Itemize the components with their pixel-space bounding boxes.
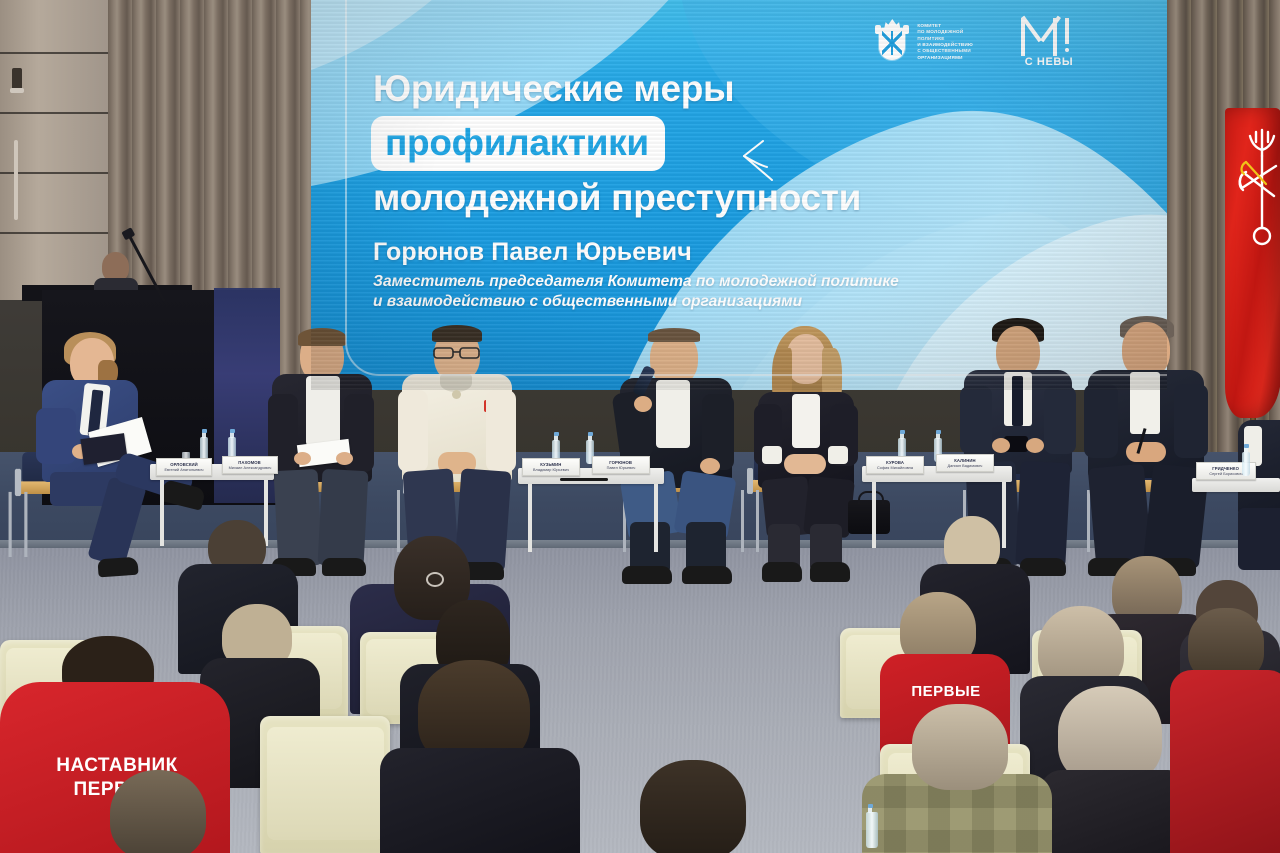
nameplate-5: КУРОВА София Михайловна bbox=[866, 456, 924, 474]
nameplate-surname: ОРЛОВСКИЙ bbox=[170, 462, 197, 467]
committee-line-6: ОРГАНИЗАЦИЯМИ bbox=[917, 55, 973, 61]
water-bottle[interactable] bbox=[1242, 452, 1250, 476]
audience-member-front-5 bbox=[1170, 608, 1280, 853]
slide-title-line-1: Юридические меры bbox=[373, 70, 1011, 107]
tshirt-right-text: ПЕРВЫЕ bbox=[894, 684, 998, 700]
nameplate-surname: ГРИДЧЕНКО bbox=[1213, 466, 1240, 471]
committee-line-5: С ОБЩЕСТВЕННЫМИ bbox=[917, 48, 973, 54]
nameplate-4: ГОРЮНОВ Павел Юрьевич bbox=[592, 456, 650, 474]
slide-title-highlight: профилактики bbox=[371, 116, 665, 171]
nameplate-patronymic: Сергей Борисович bbox=[1209, 472, 1242, 476]
moderator-shoe bbox=[160, 479, 206, 511]
nameplate-patronymic: Павел Юрьевич bbox=[607, 466, 636, 470]
nameplate-patronymic: Владимир Юрьевич bbox=[533, 468, 569, 472]
committee-logo: КОМИТЕТ ПО МОЛОДЕЖНОЙ ПОЛИТИКЕ И ВЗАИМОД… bbox=[875, 18, 973, 66]
flag-emblem-icon bbox=[1232, 118, 1280, 318]
nameplate-patronymic: Михаил Александрович bbox=[229, 466, 272, 470]
nameplate-patronymic: Даниил Вадимович bbox=[948, 464, 983, 468]
my-s-nevy-logo: С НЕВЫ bbox=[1013, 18, 1085, 72]
panelist-1-moderator bbox=[20, 332, 200, 582]
slide-speaker-role-1: Заместитель председателя Комитета по мол… bbox=[373, 272, 993, 292]
nameplate-1: ОРЛОВСКИЙ Евгений Анатольевич bbox=[156, 458, 212, 476]
audience-chair[interactable] bbox=[260, 716, 390, 853]
slide-title-line-3: молодежной преступности bbox=[373, 179, 1011, 216]
nameplate-2: ПАХОМОВ Михаил Александрович bbox=[222, 456, 278, 474]
conference-hall-photo: КОМИТЕТ ПО МОЛОДЕЖНОЙ ПОЛИТИКЕ И ВЗАИМОД… bbox=[0, 0, 1280, 853]
nameplate-surname: ГОРЮНОВ bbox=[610, 460, 633, 465]
nameplate-surname: КУРОВА bbox=[886, 460, 904, 465]
panelist-8 bbox=[1238, 420, 1280, 570]
committee-logo-text: КОМИТЕТ ПО МОЛОДЕЖНОЙ ПОЛИТИКЕ И ВЗАИМОД… bbox=[917, 23, 973, 61]
audience-member-front-3 bbox=[620, 760, 770, 853]
nameplate-6: КАЛИНИН Даниил Вадимович bbox=[936, 454, 994, 472]
my-s-nevy-caption: С НЕВЫ bbox=[1013, 56, 1085, 68]
audience-member-front-1 bbox=[100, 770, 230, 853]
slide-logos: КОМИТЕТ ПО МОЛОДЕЖНОЙ ПОЛИТИКЕ И ВЗАИМОД… bbox=[875, 18, 1085, 72]
hand-drawn-arrow-icon bbox=[741, 138, 787, 194]
my-s-nevy-mark-icon bbox=[1019, 18, 1073, 56]
slide-speaker-name: Горюнов Павел Юрьевич bbox=[373, 238, 1011, 267]
nameplate-patronymic: София Михайловна bbox=[877, 466, 913, 470]
coat-of-arms-icon bbox=[875, 18, 909, 66]
audience-member-front-4 bbox=[1040, 686, 1190, 853]
audience-member-front-6 bbox=[862, 734, 1052, 853]
hair-clip-icon bbox=[426, 572, 444, 587]
nameplate-surname: КАЛИНИН bbox=[954, 458, 975, 463]
slide-speaker-role-2: и взаимодействию с общественными организ… bbox=[373, 292, 993, 312]
wall-fixture-icon bbox=[12, 68, 22, 90]
panelist-5 bbox=[748, 328, 874, 582]
panelist-7 bbox=[1086, 318, 1226, 578]
nameplate-surname: КУЗЬМИН bbox=[540, 462, 561, 467]
nameplate-patronymic: Евгений Анатольевич bbox=[164, 468, 203, 472]
nameplate-3: КУЗЬМИН Владимир Юрьевич bbox=[522, 458, 580, 476]
water-bottle-audience[interactable] bbox=[866, 812, 878, 848]
panelist-5-hands bbox=[784, 454, 826, 474]
audience-member-front-2 bbox=[380, 660, 580, 853]
door-handle[interactable] bbox=[14, 140, 18, 220]
nameplate-surname: ПАХОМОВ bbox=[239, 460, 262, 465]
slide-text-block: Юридические меры профилактики молодежной… bbox=[371, 70, 1011, 313]
microphone-on-table[interactable] bbox=[560, 478, 608, 481]
handbag bbox=[848, 500, 890, 534]
technician bbox=[94, 252, 138, 292]
glasses-icon bbox=[432, 346, 482, 360]
panel-table-4 bbox=[1192, 478, 1280, 492]
